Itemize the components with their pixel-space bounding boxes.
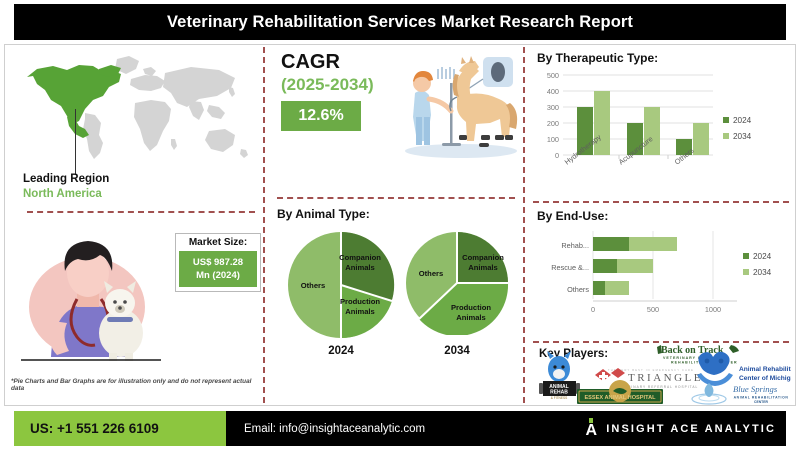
svg-text:CENTER: CENTER bbox=[754, 400, 768, 404]
animal-type-pie-2034 bbox=[405, 231, 509, 335]
logo-blue-springs-animal-rehabilitation-center: Blue Springs ANIMAL REHABILITATION CENTE… bbox=[692, 383, 788, 404]
therapeutic-type-chart: 500 400 300 200 100 0 Hydrothera bbox=[537, 69, 787, 197]
report-header: Veterinary Rehabilitation Services Marke… bbox=[14, 4, 786, 40]
svg-text:2024: 2024 bbox=[733, 116, 752, 125]
key-players-logos: Back on Track VETERINARY HOSPITAL & REHA… bbox=[533, 345, 791, 405]
svg-text:Back on Track: Back on Track bbox=[661, 345, 724, 356]
svg-text:ESSEX ANIMAL HOSPITAL: ESSEX ANIMAL HOSPITAL bbox=[584, 395, 656, 401]
animal-type-chart-title: By Animal Type: bbox=[277, 207, 370, 221]
market-size-value-line1: US$ 987.28 bbox=[181, 256, 255, 269]
market-size-value-line2: Mn (2024) bbox=[181, 269, 255, 282]
svg-text:400: 400 bbox=[547, 87, 559, 96]
horizontal-divider-left bbox=[27, 211, 255, 213]
report-footer: US: +1 551 226 6109 Email: info@insighta… bbox=[14, 411, 786, 446]
logo-animal-rehab-fitness: ANIMAL REHAB & FITNESS bbox=[539, 351, 580, 400]
svg-text:300: 300 bbox=[547, 103, 559, 112]
vet-with-dog-icon bbox=[17, 229, 165, 369]
svg-text:100: 100 bbox=[547, 135, 559, 144]
animal-type-pie-2024 bbox=[287, 231, 395, 339]
svg-text:2034: 2034 bbox=[733, 132, 752, 141]
logo-animal-rehabilitation-center-michigan: Animal Rehabilitation Center of Michigan… bbox=[697, 352, 791, 386]
svg-text:500: 500 bbox=[647, 305, 659, 314]
horizontal-divider-right-1 bbox=[533, 201, 789, 203]
therapeutic-bar-chart-icon: 500 400 300 200 100 0 Hydrothera bbox=[537, 69, 787, 197]
content-frame: Leading Region North America bbox=[4, 44, 796, 406]
svg-text:REHAB: REHAB bbox=[550, 390, 568, 396]
map-pointer-line bbox=[75, 109, 76, 175]
brand-mark-letter: A bbox=[585, 423, 597, 439]
leading-region-value: North America bbox=[23, 188, 102, 200]
svg-text:0: 0 bbox=[555, 151, 559, 160]
svg-text:& FITNESS: & FITNESS bbox=[551, 396, 567, 400]
market-size-value: US$ 987.28 Mn (2024) bbox=[179, 251, 257, 287]
veterinarian-illustration bbox=[17, 229, 165, 369]
svg-text:ANIMAL REHABILITATION: ANIMAL REHABILITATION bbox=[734, 396, 789, 400]
pie-chart-2034-icon bbox=[405, 231, 509, 335]
horse-therapy-icon bbox=[395, 55, 521, 160]
svg-text:2024: 2024 bbox=[753, 252, 772, 261]
brand-dot-icon bbox=[589, 418, 593, 423]
therapeutic-type-chart-title: By Therapeutic Type: bbox=[537, 51, 658, 65]
end-use-chart-title: By End-Use: bbox=[537, 209, 608, 223]
footer-phone[interactable]: US: +1 551 226 6109 bbox=[14, 411, 226, 446]
vertical-divider-2 bbox=[523, 47, 525, 403]
horizontal-divider-middle bbox=[277, 197, 515, 199]
svg-text:Others: Others bbox=[567, 285, 589, 294]
market-size-card: Market Size: US$ 987.28 Mn (2024) bbox=[175, 233, 261, 292]
equine-therapy-illustration bbox=[395, 55, 521, 160]
market-size-label: Market Size: bbox=[179, 237, 257, 248]
horizontal-divider-right-2 bbox=[533, 341, 789, 343]
end-use-stacked-bar-chart-icon: Rehab... Rescue &... Others 0 500 1000 2… bbox=[537, 227, 789, 335]
svg-text:Rehab...: Rehab... bbox=[561, 241, 589, 250]
infographic-page: Veterinary Rehabilitation Services Marke… bbox=[0, 0, 800, 450]
cagr-label: CAGR bbox=[281, 51, 340, 74]
brand-logo: A INSIGHT ACE ANALYTIC bbox=[584, 411, 776, 446]
svg-text:TRIANGLE: TRIANGLE bbox=[628, 372, 703, 384]
key-players-logo-strip-icon: Back on Track VETERINARY HOSPITAL & REHA… bbox=[533, 345, 791, 405]
svg-text:Animal Rehabilitation: Animal Rehabilitation bbox=[739, 366, 791, 373]
svg-text:Blue Springs: Blue Springs bbox=[733, 384, 778, 394]
cagr-value-badge: 12.6% bbox=[281, 101, 361, 131]
footer-dark-bar: Email: info@insightaceanalytic.com A INS… bbox=[226, 411, 786, 446]
footer-email[interactable]: Email: info@insightaceanalytic.com bbox=[226, 423, 425, 435]
cagr-period: (2025-2034) bbox=[281, 75, 374, 95]
chart-disclaimer-footnote: *Pie Charts and Bar Graphs are for illus… bbox=[11, 378, 261, 392]
brand-name: INSIGHT ACE ANALYTIC bbox=[606, 423, 776, 435]
world-map-icon bbox=[13, 51, 257, 171]
end-use-chart: Rehab... Rescue &... Others 0 500 1000 2… bbox=[537, 227, 789, 335]
svg-text:Rescue &...: Rescue &... bbox=[551, 263, 589, 272]
pie-2024-year-caption: 2024 bbox=[287, 345, 395, 357]
svg-text:500: 500 bbox=[547, 71, 559, 80]
page-title: Veterinary Rehabilitation Services Marke… bbox=[167, 13, 633, 32]
svg-text:1000: 1000 bbox=[705, 305, 721, 314]
pie-chart-2024-icon bbox=[287, 231, 395, 339]
brand-mark-icon: A bbox=[584, 419, 598, 439]
leading-region-label: Leading Region bbox=[23, 173, 109, 185]
world-map bbox=[13, 51, 257, 171]
svg-text:200: 200 bbox=[547, 119, 559, 128]
svg-text:0: 0 bbox=[591, 305, 595, 314]
svg-text:Center of Michigan, Inc.: Center of Michigan, Inc. bbox=[739, 375, 791, 382]
pie-2034-year-caption: 2034 bbox=[405, 345, 509, 357]
svg-text:2034: 2034 bbox=[753, 268, 772, 277]
vertical-divider-1 bbox=[263, 47, 265, 403]
